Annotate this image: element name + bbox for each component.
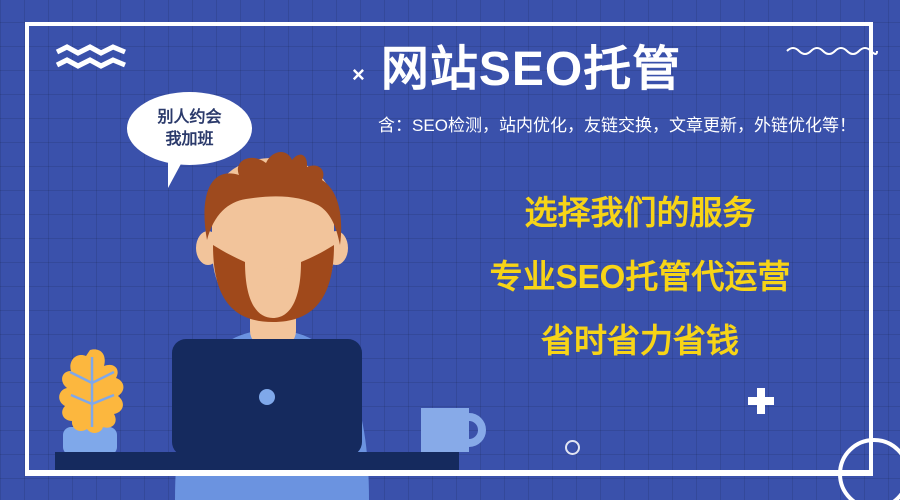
- slogan-line-2: 专业SEO托管代运营: [430, 260, 850, 293]
- mug-handle: [469, 417, 482, 443]
- page-title: 网站SEO托管: [381, 44, 681, 97]
- speech-bubble-line-1: 别人约会: [157, 107, 221, 129]
- title-row: × 网站SEO托管: [330, 44, 890, 97]
- wave-lines-icon: [55, 44, 131, 70]
- mouth: [247, 267, 299, 287]
- speech-bubble: 别人约会 我加班: [127, 92, 252, 165]
- seo-promo-banner: 别人约会 我加班 × 网站SEO托管 含：SEO检测，站内优化，友链交换，文章更…: [0, 0, 900, 500]
- laptop-logo: [259, 389, 275, 405]
- subtitle: 含：SEO检测，站内优化，友链交换，文章更新，外链优化等！: [330, 111, 890, 136]
- small-circle-outline-icon: [565, 440, 580, 455]
- title-bullet-icon: ×: [352, 64, 365, 86]
- mug-body: [421, 408, 469, 452]
- slogan-block: 选择我们的服务 专业SEO托管代运营 省时省力省钱: [430, 196, 850, 357]
- speech-bubble-line-2: 我加班: [165, 129, 213, 151]
- headline-block: × 网站SEO托管 含：SEO检测，站内优化，友链交换，文章更新，外链优化等！: [330, 44, 890, 136]
- desk-edge-line: [25, 470, 873, 474]
- slogan-line-1: 选择我们的服务: [430, 196, 850, 229]
- plus-icon: [748, 388, 774, 414]
- slogan-line-3: 省时省力省钱: [430, 324, 850, 357]
